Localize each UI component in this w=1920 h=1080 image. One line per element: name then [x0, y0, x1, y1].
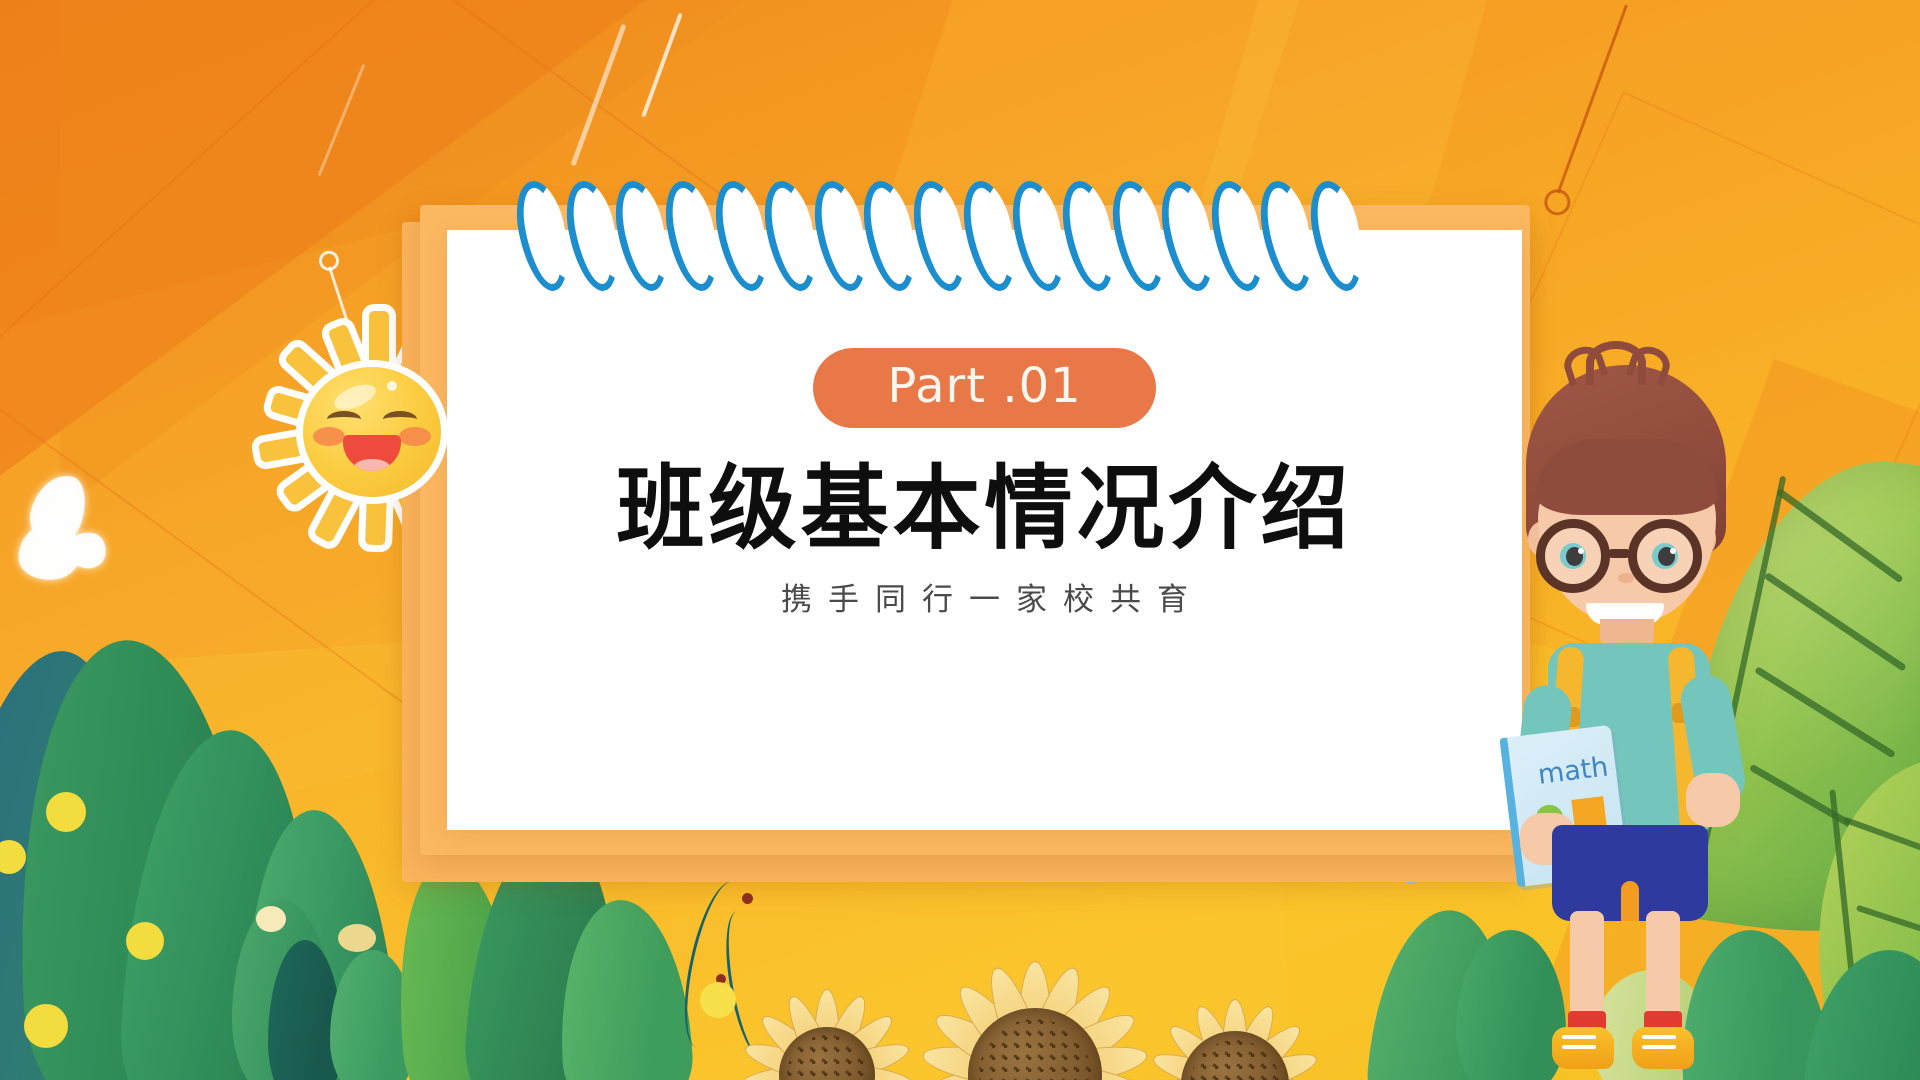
- nose: [1618, 573, 1634, 583]
- cactus-flower: [256, 906, 286, 932]
- shoe-lace: [1562, 1035, 1596, 1039]
- leaf-midrib: [1829, 789, 1865, 1072]
- slide-content: Part .01 班级基本情况介绍 携手同行一家校共育: [447, 230, 1522, 830]
- shoe-lace: [1642, 1035, 1676, 1039]
- sun-highlight-dot: [387, 381, 397, 391]
- part-badge: Part .01: [813, 348, 1155, 428]
- glasses-bridge: [1608, 549, 1630, 558]
- cactus: [330, 950, 416, 1080]
- sunflower: [880, 920, 1190, 1080]
- bg-streak-4: [318, 64, 366, 176]
- hair-fringe: [1536, 439, 1718, 515]
- cactus-flower: [338, 924, 376, 952]
- sun-highlight: [331, 379, 379, 414]
- cactus-blade: [238, 807, 399, 1080]
- leaf-vein: [1843, 817, 1920, 871]
- cactus-blade: [0, 641, 164, 1080]
- sunflower-center: [968, 1008, 1102, 1080]
- leaf-vein: [1856, 905, 1920, 953]
- flower-dot: [24, 1004, 68, 1048]
- presentation-slide: Part .01 班级基本情况介绍 携手同行一家校共育 mat: [0, 0, 1920, 1080]
- glasses-lens-right: [1628, 519, 1702, 593]
- cactus-blade: [115, 725, 327, 1080]
- schoolboy-illustration: math: [1490, 355, 1780, 1080]
- sun-cheek-right: [399, 427, 431, 446]
- plant-stem: [673, 877, 757, 1054]
- bg-streak-1: [641, 13, 682, 118]
- shoe-lace: [1642, 1045, 1676, 1049]
- leaf-vein: [1763, 572, 1906, 672]
- pin-line-icon: [1557, 4, 1628, 193]
- book-title: math: [1536, 751, 1610, 790]
- cactus-blade: [5, 634, 271, 1080]
- page-subtitle: 携手同行一家校共育: [765, 574, 1204, 619]
- shoe-lace: [1562, 1045, 1596, 1049]
- berry: [742, 893, 753, 904]
- leaf-blade: [387, 855, 529, 1080]
- sun-mouth: [343, 435, 401, 471]
- butterfly-icon: [10, 470, 120, 600]
- leaf-vein: [1776, 488, 1904, 584]
- flower-dot: [126, 922, 164, 960]
- sun-eye-right: [383, 411, 417, 428]
- shoe-right: [1632, 1027, 1694, 1069]
- glasses-lens-left: [1536, 519, 1610, 593]
- flower-dot: [46, 792, 86, 832]
- sunflower-center: [1181, 1031, 1289, 1080]
- berry: [716, 974, 726, 984]
- sun-eye-left: [327, 411, 361, 428]
- shorts: [1552, 825, 1708, 921]
- sunflower-petals: [880, 920, 1190, 1080]
- cactus: [268, 940, 342, 1080]
- hand-right: [1686, 773, 1740, 827]
- flower-dot: [0, 840, 26, 874]
- sunflower: [1110, 960, 1360, 1080]
- sunflower-petals: [1110, 960, 1360, 1080]
- shoe-left: [1552, 1027, 1614, 1069]
- sun-face: [296, 360, 448, 504]
- flower-dot: [700, 982, 736, 1018]
- plant-stem: [717, 908, 782, 1063]
- leaf-blade: [554, 897, 695, 1080]
- sunflower-petals: [712, 960, 942, 1080]
- sun-cheek-left: [313, 427, 345, 446]
- page-title: 班级基本情况介绍: [616, 460, 1352, 556]
- sunflower-center: [779, 1027, 875, 1080]
- cactus: [232, 900, 332, 1080]
- sunflower: [712, 960, 942, 1080]
- bg-streak-2: [570, 24, 626, 167]
